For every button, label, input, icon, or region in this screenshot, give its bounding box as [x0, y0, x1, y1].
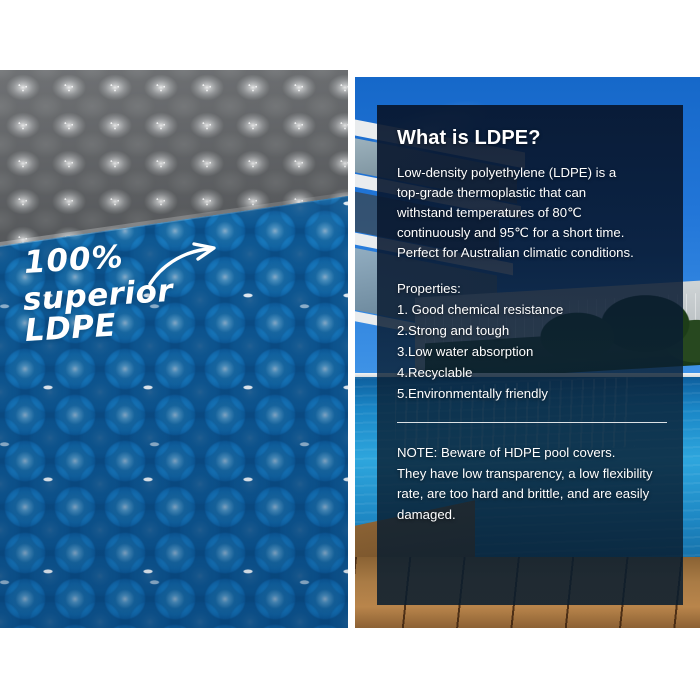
handwritten-superior-ldpe: superior LDPE — [22, 270, 275, 347]
note-paragraph: NOTE: Beware of HDPE pool covers. They h… — [397, 443, 667, 525]
list-item: 4.Recyclable — [397, 362, 667, 383]
intro-paragraph: Low-density polyethylene (LDPE) is a top… — [397, 163, 667, 263]
paragraph-line: Low-density polyethylene (LDPE) is a — [397, 163, 667, 183]
paragraph-line: continuously and 95℃ for a short time. — [397, 223, 667, 243]
paragraph-line: top-grade thermoplastic that can — [397, 183, 667, 203]
note-line: They have low transparency, a low flexib… — [397, 464, 667, 485]
note-line: NOTE: Beware of HDPE pool covers. — [397, 443, 667, 464]
product-infographic: 100% superior LDPE — [0, 0, 700, 700]
note-line: rate, are too hard and brittle, and are … — [397, 484, 667, 505]
panel-title: What is LDPE? — [397, 127, 667, 150]
horizontal-divider — [397, 422, 667, 423]
paragraph-line: Perfect for Australian climatic conditio… — [397, 243, 667, 263]
properties-heading: Properties: — [397, 279, 667, 299]
note-line: damaged. — [397, 505, 667, 526]
right-image-panel: What is LDPE? Low-density polyethylene (… — [355, 77, 700, 628]
info-overlay: What is LDPE? Low-density polyethylene (… — [377, 105, 683, 605]
list-item: 5.Environmentally friendly — [397, 383, 667, 404]
list-item: 2.Strong and tough — [397, 320, 667, 341]
left-image-panel: 100% superior LDPE — [0, 70, 348, 628]
handwritten-callout: 100% superior LDPE — [24, 248, 274, 347]
list-item: 3.Low water absorption — [397, 341, 667, 362]
properties-list: 1. Good chemical resistance 2.Strong and… — [397, 299, 667, 404]
list-item: 1. Good chemical resistance — [397, 299, 667, 320]
paragraph-line: withstand temperatures of 80℃ — [397, 203, 667, 223]
